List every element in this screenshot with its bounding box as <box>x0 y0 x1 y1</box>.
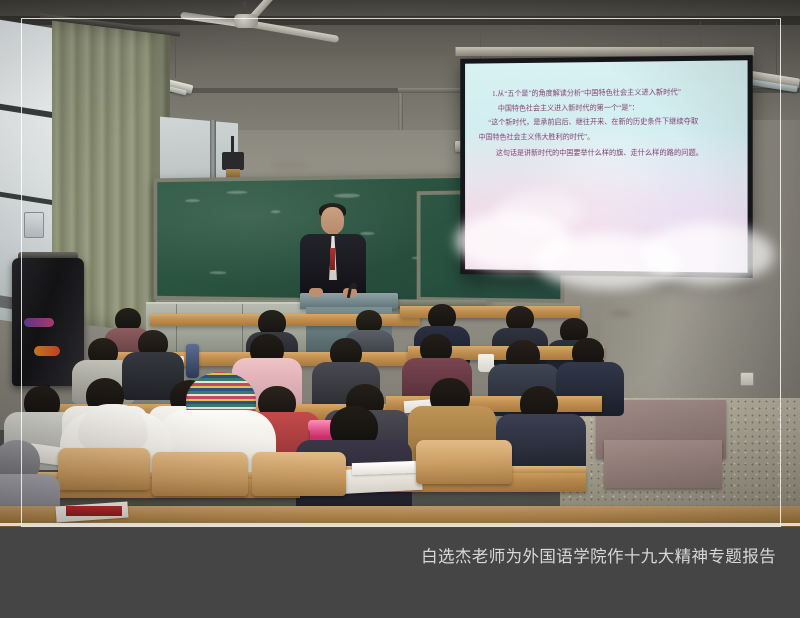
wireless-access-point <box>222 152 244 170</box>
slide-line: 1.从“五个是”的角度解读分析“中国特色社会主义进入新时代” <box>479 89 734 99</box>
photo-caption: 白选杰老师为外国语学院作十九大精神专题报告 <box>0 543 776 567</box>
photo-bottom-edge <box>0 523 800 526</box>
chair-back <box>252 452 346 496</box>
water-bottle <box>186 344 199 378</box>
presentation-slide: 1.从“五个是”的角度解读分析“中国特色社会主义进入新时代” 中国特色社会主义进… <box>465 60 748 273</box>
chair-back <box>58 448 150 490</box>
image-root: 1.从“五个是”的角度解读分析“中国特色社会主义进入新时代” 中国特色社会主义进… <box>0 0 800 618</box>
lamp-wire <box>776 22 777 74</box>
wall-stain <box>270 160 310 170</box>
slide-line: 中国特色社会主义伟大胜利的时代”。 <box>479 133 734 141</box>
photograph: 1.从“五个是”的角度解读分析“中国特色社会主义进入新时代” 中国特色社会主义进… <box>0 0 800 527</box>
microphone-icon <box>350 283 357 289</box>
slide-line: 这句话是讲新时代的中国要举什么样的旗、走什么样的路的问题。 <box>479 150 734 158</box>
chair-back <box>416 440 512 484</box>
audience <box>0 300 800 527</box>
coat-hood <box>78 404 148 450</box>
slide-line: 中国特色社会主义进入新时代的第一个“是”： <box>479 104 734 113</box>
caption-bar: 白选杰老师为外国语学院作十九大精神专题报告 <box>0 527 800 618</box>
wall-switch-box[interactable] <box>24 212 44 238</box>
speaker-hand <box>309 288 323 297</box>
chair-back <box>152 452 248 496</box>
desk <box>400 306 580 318</box>
slide-line: “这个新时代，是承前启后、继往开来、在新的历史条件下继续夺取 <box>479 118 734 127</box>
papers <box>352 461 416 475</box>
projector-screen: 1.从“五个是”的角度解读分析“中国特色社会主义进入新时代” 中国特色社会主义进… <box>460 55 752 278</box>
red-banner <box>66 506 122 516</box>
ceiling-fan-motor <box>234 14 258 28</box>
slide-text-block: 1.从“五个是”的角度解读分析“中国特色社会主义进入新时代” 中国特色社会主义进… <box>465 89 748 165</box>
speaker-tie <box>330 248 335 270</box>
